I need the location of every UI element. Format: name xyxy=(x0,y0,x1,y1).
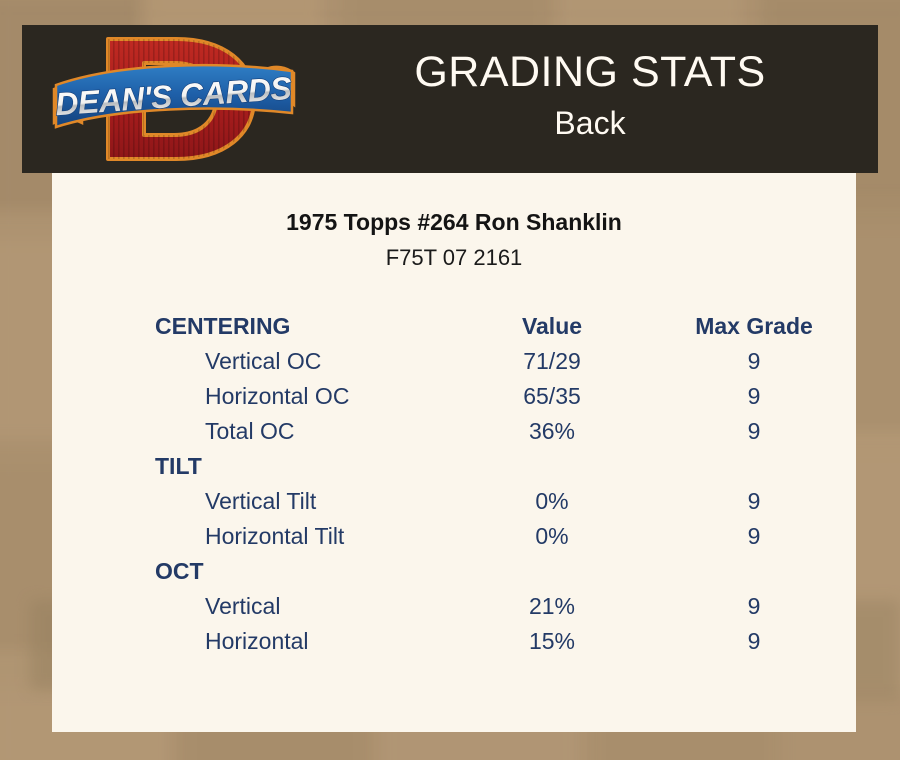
empty-cell xyxy=(652,449,856,484)
row-label: Vertical xyxy=(52,589,452,624)
row-label: Horizontal Tilt xyxy=(52,519,452,554)
card-serial: F75T 07 2161 xyxy=(52,243,856,273)
empty-cell xyxy=(452,554,652,589)
row-max-grade: 9 xyxy=(652,379,856,414)
row-value: 0% xyxy=(452,484,652,519)
row-value: 0% xyxy=(452,519,652,554)
card-title: 1975 Topps #264 Ron Shanklin xyxy=(52,207,856,237)
section-header-row: CENTERINGValueMax Grade xyxy=(52,309,856,344)
row-label: Vertical OC xyxy=(52,344,452,379)
grading-stats-table: CENTERINGValueMax GradeVertical OC71/299… xyxy=(52,309,856,659)
row-max-grade: 9 xyxy=(652,344,856,379)
row-max-grade: 9 xyxy=(652,414,856,449)
section-title-centering: CENTERING xyxy=(52,309,452,344)
table-row: Horizontal OC65/359 xyxy=(52,379,856,414)
column-header-value: Value xyxy=(452,309,652,344)
section-title-oct: OCT xyxy=(52,554,452,589)
table-row: Horizontal15%9 xyxy=(52,624,856,659)
row-max-grade: 9 xyxy=(652,589,856,624)
row-label: Total OC xyxy=(52,414,452,449)
row-label: Horizontal OC xyxy=(52,379,452,414)
row-label: Vertical Tilt xyxy=(52,484,452,519)
section-header-row: OCT xyxy=(52,554,856,589)
header-bar: DEAN'S CARDS GRADING STATS Back xyxy=(22,25,878,173)
table-row: Vertical Tilt0%9 xyxy=(52,484,856,519)
row-max-grade: 9 xyxy=(652,519,856,554)
page-subtitle: Back xyxy=(322,101,858,145)
row-max-grade: 9 xyxy=(652,624,856,659)
table-row: Vertical21%9 xyxy=(52,589,856,624)
deans-cards-logo[interactable]: DEAN'S CARDS xyxy=(48,27,300,171)
column-header-max-grade: Max Grade xyxy=(652,309,856,344)
empty-cell xyxy=(452,449,652,484)
section-title-tilt: TILT xyxy=(52,449,452,484)
row-label: Horizontal xyxy=(52,624,452,659)
table-row: Total OC36%9 xyxy=(52,414,856,449)
row-value: 15% xyxy=(452,624,652,659)
page-title: GRADING STATS xyxy=(322,47,858,97)
table-row: Horizontal Tilt0%9 xyxy=(52,519,856,554)
table-row: Vertical OC71/299 xyxy=(52,344,856,379)
header-titles: GRADING STATS Back xyxy=(322,47,858,145)
row-max-grade: 9 xyxy=(652,484,856,519)
row-value: 36% xyxy=(452,414,652,449)
empty-cell xyxy=(652,554,856,589)
row-value: 21% xyxy=(452,589,652,624)
row-value: 71/29 xyxy=(452,344,652,379)
content-panel: 1975 Topps #264 Ron Shanklin F75T 07 216… xyxy=(52,173,856,732)
section-header-row: TILT xyxy=(52,449,856,484)
row-value: 65/35 xyxy=(452,379,652,414)
